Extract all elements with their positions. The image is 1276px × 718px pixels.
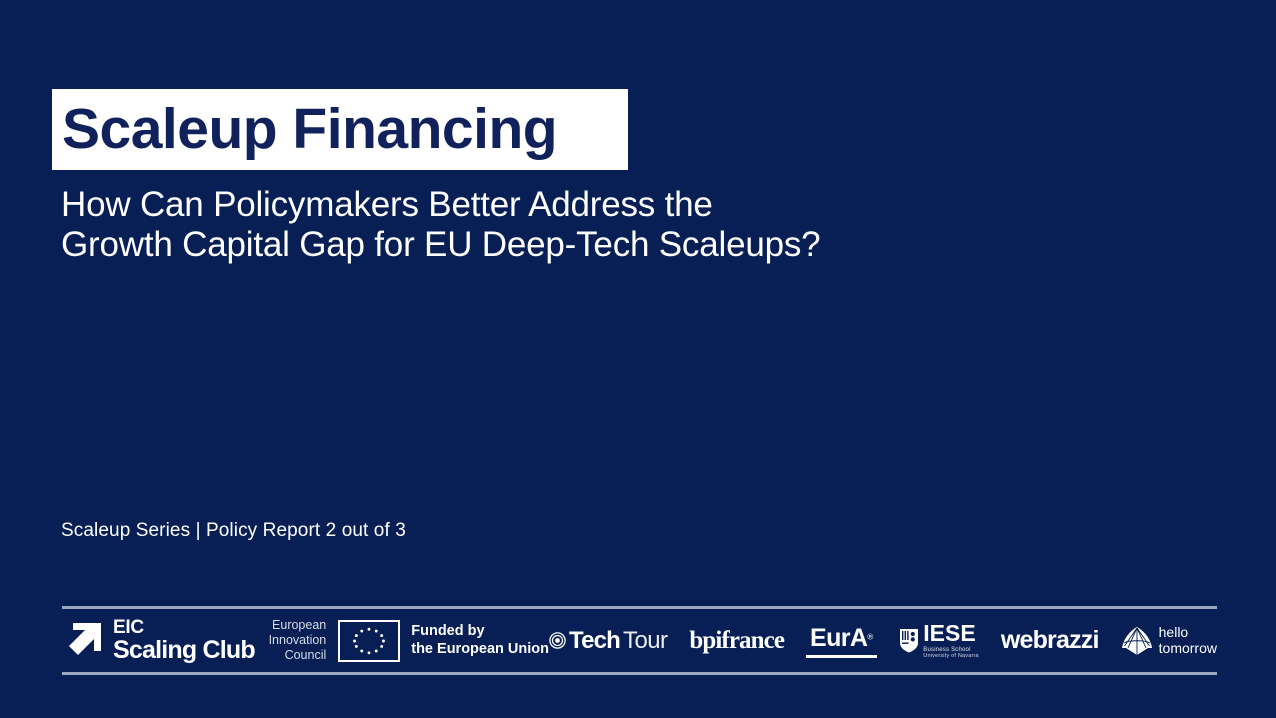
- logo-webrazzi: webrazzi: [1001, 626, 1099, 655]
- funded-by-label: Funded by the European Union: [411, 623, 549, 658]
- logo-iese: IESE Business School University of Navar…: [899, 622, 979, 660]
- eura-underline: [806, 655, 877, 658]
- footer-logo-bar: EIC Scaling Club European Innovation Cou…: [62, 606, 1217, 676]
- subtitle-line-2: Growth Capital Gap for EU Deep-Tech Scal…: [61, 225, 1061, 265]
- eic-scaling-club-logo: EIC Scaling Club: [63, 619, 255, 662]
- hello-tomorrow-line-1: hello: [1159, 625, 1217, 641]
- fan-dome-icon: [1121, 626, 1153, 656]
- council-line-2: Innovation: [269, 633, 327, 648]
- eura-label: EurA: [810, 624, 867, 652]
- funded-by-line-2: the European Union: [411, 641, 549, 658]
- eic-wordmark: EIC Scaling Club: [113, 619, 255, 662]
- iese-sublabel-1: Business School: [923, 647, 979, 653]
- spiral-icon: [549, 632, 566, 649]
- shield-icon: [899, 628, 919, 653]
- logo-techtour: Tech Tour: [549, 627, 667, 655]
- logo-eura: EurA®: [806, 624, 877, 658]
- eic-arrow-icon: [63, 620, 104, 661]
- iese-label: IESE: [923, 622, 979, 645]
- page-title: Scaleup Financing: [62, 101, 557, 158]
- slide-root: Scaleup Financing How Can Policymakers B…: [0, 0, 1276, 718]
- partner-logos: Tech Tour bpifrance EurA®: [549, 622, 1217, 660]
- techtour-tech-label: Tech: [569, 627, 620, 655]
- series-label: Scaleup Series | Policy Report 2 out of …: [61, 520, 406, 542]
- subtitle: How Can Policymakers Better Address the …: [61, 185, 1061, 266]
- divider-bottom: [62, 672, 1217, 675]
- council-line-1: European: [269, 618, 327, 633]
- logo-hello-tomorrow: hello tomorrow: [1121, 625, 1217, 656]
- bpifrance-label: bpifrance: [689, 627, 784, 655]
- eu-flag-icon: [338, 620, 400, 662]
- hello-tomorrow-line-2: tomorrow: [1159, 641, 1217, 657]
- eic-label: EIC: [113, 619, 255, 638]
- funded-by-line-1: Funded by: [411, 623, 549, 640]
- webrazzi-label: webrazzi: [1001, 626, 1099, 655]
- european-innovation-council-label: European Innovation Council: [269, 618, 327, 664]
- subtitle-line-1: How Can Policymakers Better Address the: [61, 185, 1061, 225]
- eura-registered-mark: ®: [867, 632, 873, 641]
- hello-tomorrow-label: hello tomorrow: [1159, 625, 1217, 656]
- scaling-club-label: Scaling Club: [113, 638, 255, 663]
- iese-sublabel-2: University of Navarra: [923, 654, 979, 660]
- title-box: Scaleup Financing: [52, 89, 628, 170]
- techtour-tour-label: Tour: [623, 627, 667, 655]
- logo-bpifrance: bpifrance: [689, 627, 784, 655]
- council-line-3: Council: [269, 648, 327, 663]
